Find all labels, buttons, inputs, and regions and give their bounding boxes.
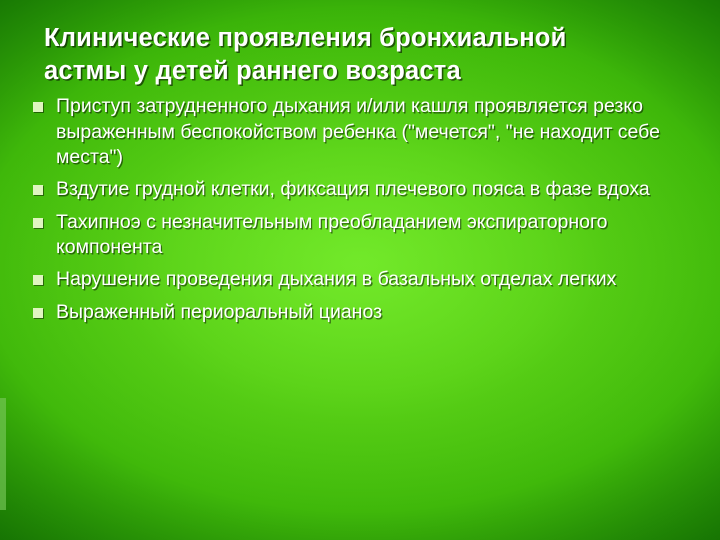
bullet-text: Приступ затрудненного дыхания и/или кашл… [56,94,700,170]
square-bullet-icon [33,185,43,195]
bullet-text: Тахипноэ с незначительным преобладанием … [56,210,700,261]
list-item: Выраженный периоральный цианоз [26,300,700,325]
square-bullet-icon [33,275,43,285]
slide-title: Клинические проявления бронхиальной астм… [44,22,604,88]
square-bullet-icon [33,102,43,112]
list-item: Нарушение проведения дыхания в базальных… [26,267,700,292]
square-bullet-icon [33,218,43,228]
bullet-text: Вздутие грудной клетки, фиксация плечево… [56,177,700,202]
list-item: Вздутие грудной клетки, фиксация плечево… [26,177,700,202]
left-accent-strip [0,398,6,510]
square-bullet-icon [33,308,43,318]
bullet-list: Приступ затрудненного дыхания и/или кашл… [26,94,700,325]
bullet-text: Нарушение проведения дыхания в базальных… [56,267,700,292]
bullet-text: Выраженный периоральный цианоз [56,300,700,325]
slide: Клинические проявления бронхиальной астм… [0,0,720,540]
slide-content: Клинические проявления бронхиальной астм… [0,0,720,325]
list-item: Тахипноэ с незначительным преобладанием … [26,210,700,261]
list-item: Приступ затрудненного дыхания и/или кашл… [26,94,700,170]
